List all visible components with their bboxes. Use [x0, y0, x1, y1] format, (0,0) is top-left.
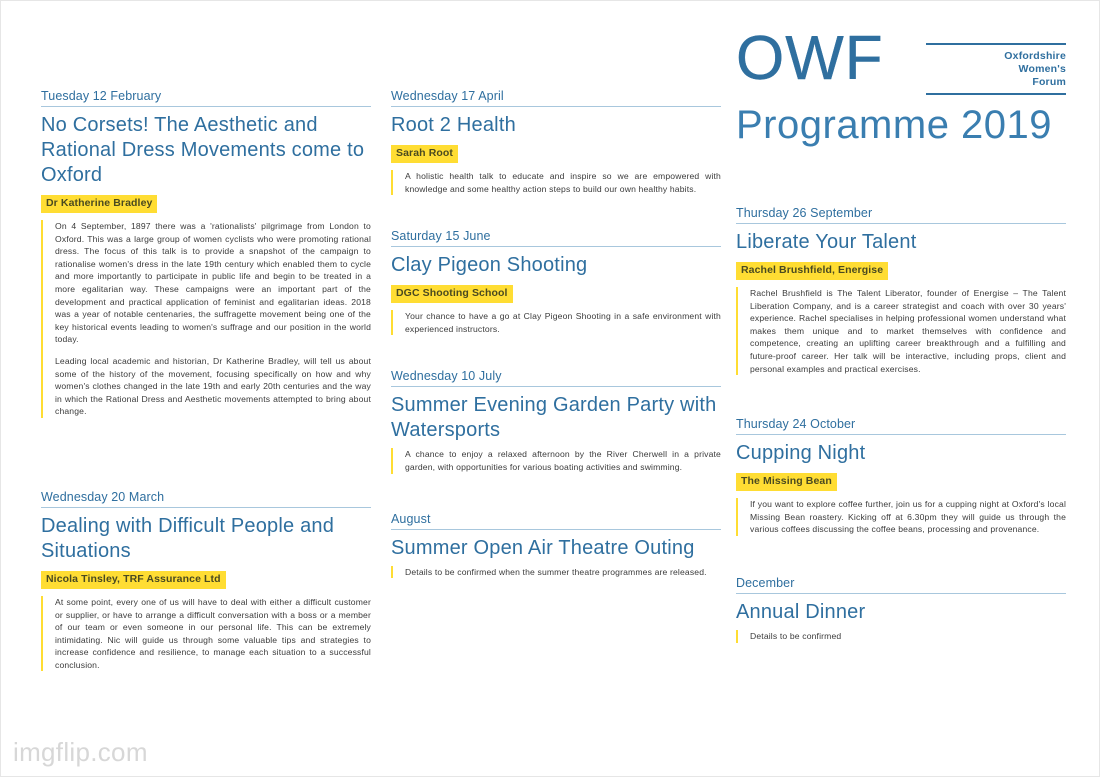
- event-description: Your chance to have a go at Clay Pigeon …: [391, 310, 721, 335]
- event-block: Tuesday 12 FebruaryNo Corsets! The Aesth…: [41, 89, 371, 418]
- event-date: Wednesday 20 March: [41, 490, 371, 507]
- event-paragraph: At some point, every one of us will have…: [55, 596, 371, 672]
- event-block: AugustSummer Open Air Theatre OutingDeta…: [391, 512, 721, 579]
- event-description: Details to be confirmed when the summer …: [391, 566, 721, 579]
- event-description: If you want to explore coffee further, j…: [736, 498, 1066, 536]
- event-speaker-badge: DGC Shooting School: [391, 285, 513, 303]
- event-title: Liberate Your Talent: [736, 230, 1066, 255]
- event-paragraph: Rachel Brushfield is The Talent Liberato…: [750, 287, 1066, 375]
- logo-rule-bottom: [926, 93, 1066, 95]
- event-speaker-badge: Nicola Tinsley, TRF Assurance Ltd: [41, 571, 226, 589]
- event-date: Wednesday 10 July: [391, 369, 721, 386]
- event-date: August: [391, 512, 721, 529]
- event-block: Wednesday 17 AprilRoot 2 HealthSarah Roo…: [391, 89, 721, 195]
- event-divider: [736, 593, 1066, 594]
- org-line-1: Oxfordshire: [926, 50, 1066, 63]
- event-description: Details to be confirmed: [736, 630, 1066, 643]
- logo-rule-top: [926, 43, 1066, 45]
- event-paragraph: Your chance to have a go at Clay Pigeon …: [405, 310, 721, 335]
- event-description: A holistic health talk to educate and in…: [391, 170, 721, 195]
- event-paragraph: A holistic health talk to educate and in…: [405, 170, 721, 195]
- event-divider: [41, 106, 371, 107]
- event-title: Summer Evening Garden Party with Watersp…: [391, 393, 721, 443]
- event-divider: [391, 386, 721, 387]
- event-block: Thursday 26 SeptemberLiberate Your Talen…: [736, 206, 1066, 375]
- event-block: Saturday 15 JuneClay Pigeon ShootingDGC …: [391, 229, 721, 335]
- event-speaker-badge: Dr Katherine Bradley: [41, 195, 157, 213]
- event-block: DecemberAnnual DinnerDetails to be confi…: [736, 576, 1066, 643]
- event-date: December: [736, 576, 1066, 593]
- event-divider: [391, 106, 721, 107]
- page-title: Programme 2019: [736, 103, 1066, 147]
- event-description: At some point, every one of us will have…: [41, 596, 371, 672]
- column-left: Tuesday 12 FebruaryNo Corsets! The Aesth…: [41, 89, 371, 671]
- masthead: OWF Oxfordshire Women's Forum Programme …: [736, 29, 1066, 147]
- event-description: Rachel Brushfield is The Talent Liberato…: [736, 287, 1066, 375]
- event-date: Thursday 26 September: [736, 206, 1066, 223]
- event-date: Thursday 24 October: [736, 417, 1066, 434]
- event-divider: [736, 223, 1066, 224]
- event-paragraph: Details to be confirmed when the summer …: [405, 566, 721, 579]
- event-title: Summer Open Air Theatre Outing: [391, 536, 721, 561]
- event-block: Wednesday 20 MarchDealing with Difficult…: [41, 490, 371, 672]
- event-title: Root 2 Health: [391, 113, 721, 138]
- event-title: Annual Dinner: [736, 600, 1066, 625]
- event-divider: [391, 246, 721, 247]
- event-speaker-badge: Rachel Brushfield, Energise: [736, 262, 888, 280]
- event-title: Cupping Night: [736, 441, 1066, 466]
- watermark: imgflip.com: [13, 737, 148, 768]
- event-divider: [391, 529, 721, 530]
- event-paragraph: Leading local academic and historian, Dr…: [55, 355, 371, 418]
- org-line-3: Forum: [926, 76, 1066, 89]
- event-date: Wednesday 17 April: [391, 89, 721, 106]
- event-date: Saturday 15 June: [391, 229, 721, 246]
- event-paragraph: On 4 September, 1897 there was a 'ration…: [55, 220, 371, 346]
- event-title: No Corsets! The Aesthetic and Rational D…: [41, 113, 371, 188]
- event-paragraph: Details to be confirmed: [750, 630, 1066, 643]
- event-speaker-badge: The Missing Bean: [736, 473, 837, 491]
- event-description: A chance to enjoy a relaxed afternoon by…: [391, 448, 721, 473]
- event-divider: [41, 507, 371, 508]
- event-title: Dealing with Difficult People and Situat…: [41, 514, 371, 564]
- event-title: Clay Pigeon Shooting: [391, 253, 721, 278]
- logo-row: OWF Oxfordshire Women's Forum: [736, 29, 1066, 95]
- column-middle: Wednesday 17 AprilRoot 2 HealthSarah Roo…: [391, 89, 721, 578]
- event-block: Wednesday 10 JulySummer Evening Garden P…: [391, 369, 721, 473]
- owf-logo-text: OWF: [736, 29, 884, 89]
- column-right: Thursday 26 SeptemberLiberate Your Talen…: [736, 206, 1066, 643]
- org-line-2: Women's: [926, 63, 1066, 76]
- event-divider: [736, 434, 1066, 435]
- event-date: Tuesday 12 February: [41, 89, 371, 106]
- event-speaker-badge: Sarah Root: [391, 145, 458, 163]
- event-paragraph: A chance to enjoy a relaxed afternoon by…: [405, 448, 721, 473]
- event-block: Thursday 24 OctoberCupping NightThe Miss…: [736, 417, 1066, 536]
- org-name-block: Oxfordshire Women's Forum: [926, 29, 1066, 95]
- programme-page: OWF Oxfordshire Women's Forum Programme …: [0, 0, 1100, 777]
- event-paragraph: If you want to explore coffee further, j…: [750, 498, 1066, 536]
- event-description: On 4 September, 1897 there was a 'ration…: [41, 220, 371, 418]
